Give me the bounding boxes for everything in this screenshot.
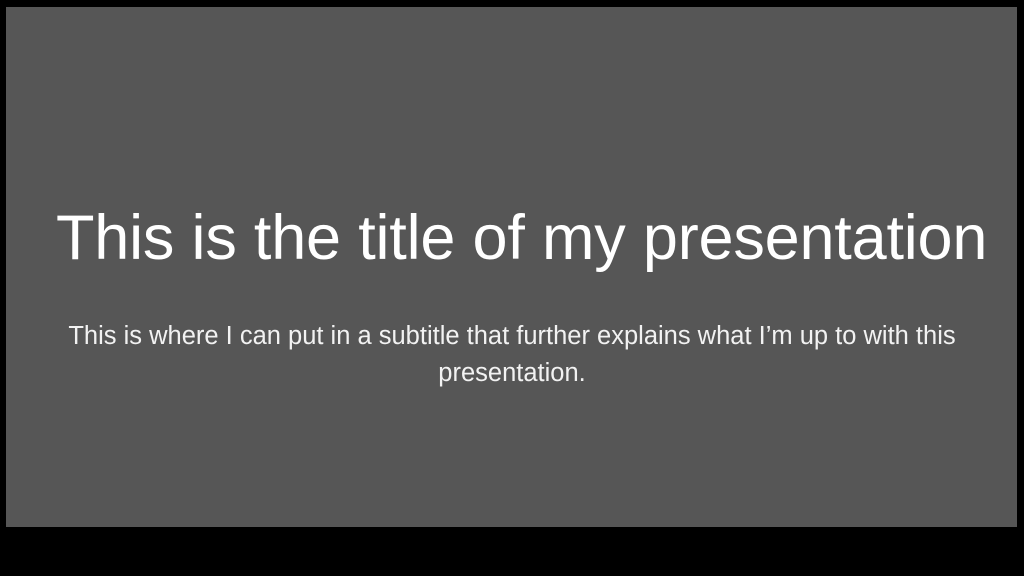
slide-content: This is the title of my presentation Thi… <box>6 7 1017 527</box>
slide-canvas[interactable]: This is the title of my presentation Thi… <box>6 7 1017 527</box>
presentation-screenshot: This is the title of my presentation Thi… <box>0 0 1024 576</box>
slide-subtitle[interactable]: This is where I can put in a subtitle th… <box>32 318 992 392</box>
slide-title[interactable]: This is the title of my presentation <box>56 203 986 274</box>
